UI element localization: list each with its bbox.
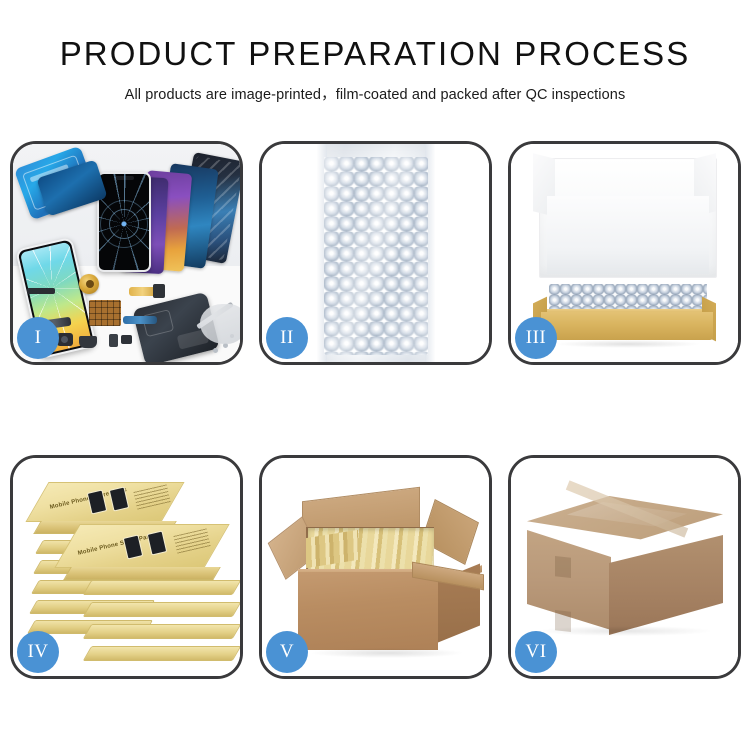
stacked-box-slab (83, 580, 240, 595)
process-step-2[interactable]: II (259, 141, 492, 365)
step-badge-6: VI (515, 631, 557, 673)
drop-shadow (555, 340, 701, 348)
page-title: PRODUCT PREPARATION PROCESS (0, 34, 750, 74)
screw-part-2 (213, 348, 218, 353)
step-badge-1: I (17, 317, 59, 359)
carton-front-face (298, 572, 438, 650)
flex-cable-gold (129, 287, 159, 296)
process-step-6[interactable]: VI (508, 455, 741, 679)
button-part-1 (109, 334, 118, 347)
page-subtitle: All products are image-printed，film-coat… (0, 83, 750, 104)
step-badge-3: III (515, 317, 557, 359)
process-step-4[interactable]: Mobile Phone Spare Parts Mobile Phone Sp… (10, 455, 243, 679)
box-front-panel (541, 312, 713, 340)
carton-tab-upper (555, 556, 571, 578)
white-foam-liner (547, 196, 709, 274)
process-step-3[interactable]: III (508, 141, 741, 365)
speaker-part (79, 336, 97, 348)
stacked-box-slab (83, 602, 240, 617)
phone-screen-cracked (97, 172, 151, 272)
button-part-2 (121, 335, 132, 344)
process-step-5[interactable]: V (259, 455, 492, 679)
step-badge-4: IV (17, 631, 59, 673)
chip-part (89, 300, 121, 326)
process-step-grid: I II III (10, 141, 742, 679)
step-badge-2: II (266, 317, 308, 359)
labelled-box-front: Mobile Phone Spare Parts (67, 524, 217, 568)
step-badge-5: V (266, 631, 308, 673)
crack-ring-outer (100, 200, 148, 248)
flex-cable-blue (123, 316, 157, 324)
stacked-box-slab (83, 646, 240, 661)
drop-shadow (539, 626, 711, 636)
page-header: PRODUCT PREPARATION PROCESS All products… (0, 0, 750, 104)
drop-shadow (312, 648, 462, 658)
bubble-pattern (324, 157, 428, 355)
vibration-motor-part (79, 274, 99, 294)
earpiece-part (27, 288, 55, 294)
box-stack: Mobile Phone Spare Parts Mobile Phone Sp… (21, 476, 239, 664)
stacked-box-slab (83, 624, 240, 639)
labelled-box-back: Mobile Phone Spare Parts (37, 482, 173, 522)
box-side-face (63, 567, 221, 580)
process-step-1[interactable]: I (10, 141, 243, 365)
camera-module-part (57, 333, 73, 346)
